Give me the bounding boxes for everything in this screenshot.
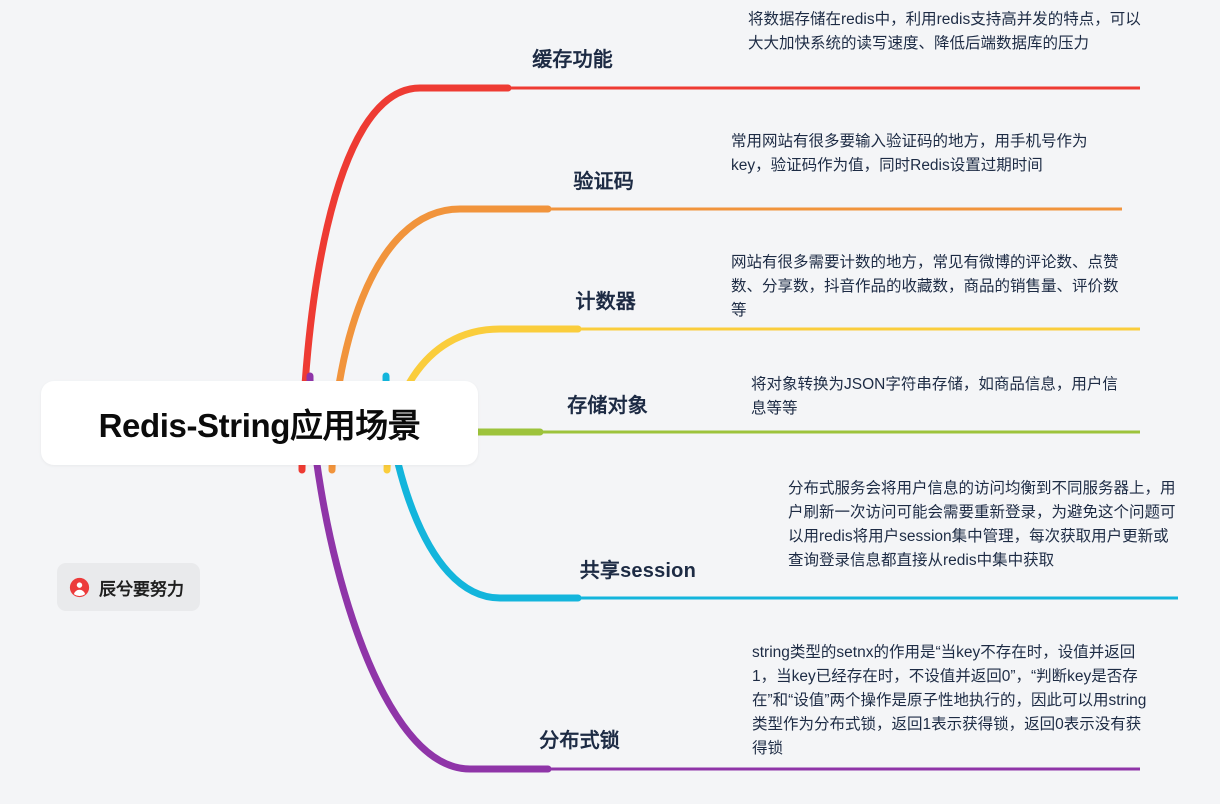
watermark-badge: 辰兮要努力 xyxy=(57,563,200,611)
central-node[interactable]: Redis-String应用场景 xyxy=(41,381,478,465)
branch-desc-shared-session: 分布式服务会将用户信息的访问均衡到不同服务器上，用户刷新一次访问可能会需要重新登… xyxy=(788,477,1180,573)
branch-desc-captcha: 常用网站有很多要输入验证码的地方，用手机号作为key，验证码作为值，同时Redi… xyxy=(731,130,1123,178)
central-node-title: Redis-String应用场景 xyxy=(99,399,421,447)
branch-desc-cache: 将数据存储在redis中，利用redis支持高并发的特点，可以大大加快系统的读写… xyxy=(748,8,1144,56)
branch-label-captcha: 验证码 xyxy=(445,165,634,194)
branch-desc-counter: 网站有很多需要计数的地方，常见有微博的评论数、点赞数、分享数，抖音作品的收藏数，… xyxy=(731,251,1127,323)
watermark-text: 辰兮要努力 xyxy=(99,575,184,600)
branch-desc-store-object: 将对象转换为JSON字符串存储，如商品信息，用户信息等等 xyxy=(751,373,1133,421)
branch-desc-distributed-lock: string类型的setnx的作用是“当key不存在时，设值并返回1，当key已… xyxy=(752,641,1152,761)
branch-label-distributed-lock: 分布式锁 xyxy=(445,724,620,753)
user-circle-icon xyxy=(69,577,90,598)
branch-label-cache: 缓存功能 xyxy=(445,43,613,72)
branch-label-counter: 计数器 xyxy=(445,285,636,314)
branch-label-shared-session: 共享session xyxy=(445,554,696,583)
